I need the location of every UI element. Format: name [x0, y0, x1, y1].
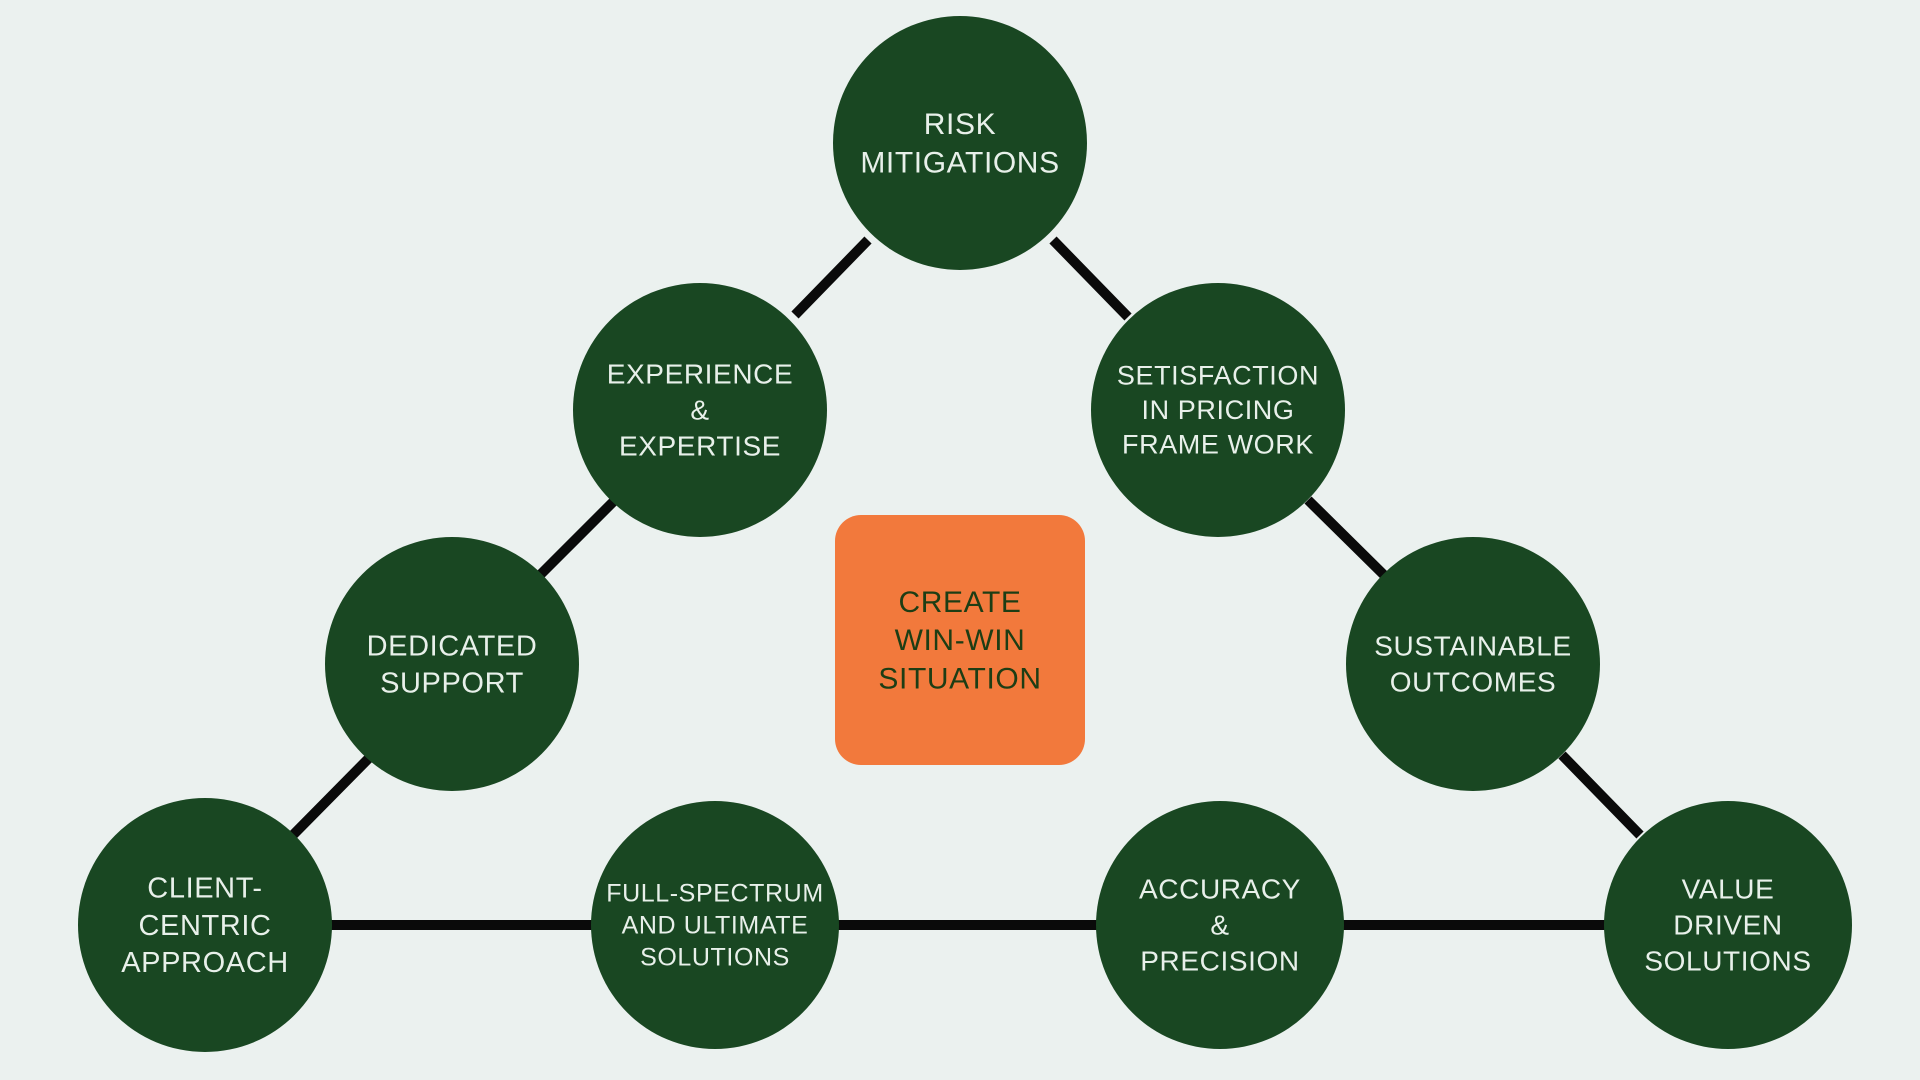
node-label-full-spectrum-and-ultimate-solutions-line-1: FULL-SPECTRUM	[606, 880, 824, 908]
node-label-full-spectrum-and-ultimate-solutions-line-2: AND ULTIMATE	[622, 912, 809, 940]
node-label-value-driven-solutions-line-2: DRIVEN	[1673, 910, 1782, 941]
center-label-line-2: WIN-WIN	[895, 624, 1026, 657]
center-label-line-1: CREATE	[898, 586, 1021, 619]
node-risk-mitigations[interactable]: RISKMITIGATIONS	[833, 16, 1087, 270]
node-shape-dedicated-support[interactable]	[325, 537, 579, 791]
node-label-risk-mitigations-line-2: MITIGATIONS	[860, 146, 1059, 179]
node-label-experience-and-expertise-line-1: EXPERIENCE	[607, 359, 794, 390]
node-label-client-centric-approach-line-2: CENTRIC	[138, 910, 271, 942]
node-label-dedicated-support-line-1: DEDICATED	[367, 630, 538, 662]
node-label-dedicated-support-line-2: SUPPORT	[380, 667, 524, 699]
node-create-win-win-situation[interactable]: CREATEWIN-WINSITUATION	[835, 515, 1085, 765]
node-label-risk-mitigations-line-1: RISK	[924, 108, 996, 141]
node-client-centric-approach[interactable]: CLIENT-CENTRICAPPROACH	[78, 798, 332, 1052]
node-full-spectrum-and-ultimate-solutions[interactable]: FULL-SPECTRUMAND ULTIMATESOLUTIONS	[591, 801, 839, 1049]
node-label-client-centric-approach-line-3: APPROACH	[121, 947, 289, 979]
node-label-accuracy-and-precision-line-2: &	[1210, 910, 1229, 941]
node-setisfaction-in-pricing-frame-work[interactable]: SETISFACTIONIN PRICINGFRAME WORK	[1091, 283, 1345, 537]
node-shape-sustainable-outcomes[interactable]	[1346, 537, 1600, 791]
node-label-setisfaction-in-pricing-frame-work-line-3: FRAME WORK	[1122, 430, 1314, 460]
node-accuracy-and-precision[interactable]: ACCURACY&PRECISION	[1096, 801, 1344, 1049]
node-label-accuracy-and-precision-line-1: ACCURACY	[1139, 874, 1301, 905]
win-win-diagram: RISKMITIGATIONSEXPERIENCE&EXPERTISESETIS…	[0, 0, 1920, 1080]
node-label-experience-and-expertise-line-2: &	[690, 395, 709, 426]
node-label-sustainable-outcomes-line-2: OUTCOMES	[1390, 666, 1557, 697]
node-label-sustainable-outcomes-line-1: SUSTAINABLE	[1374, 631, 1571, 662]
node-label-client-centric-approach-line-1: CLIENT-	[147, 873, 262, 905]
node-label-setisfaction-in-pricing-frame-work-line-1: SETISFACTION	[1117, 361, 1319, 391]
center-node-layer: CREATEWIN-WINSITUATION	[835, 515, 1085, 765]
center-label-line-3: SITUATION	[878, 663, 1041, 696]
node-shape-risk-mitigations[interactable]	[833, 16, 1087, 270]
node-dedicated-support[interactable]: DEDICATEDSUPPORT	[325, 537, 579, 791]
node-label-setisfaction-in-pricing-frame-work-line-2: IN PRICING	[1141, 395, 1294, 425]
node-label-full-spectrum-and-ultimate-solutions-line-3: SOLUTIONS	[640, 944, 790, 972]
node-experience-and-expertise[interactable]: EXPERIENCE&EXPERTISE	[573, 283, 827, 537]
node-label-value-driven-solutions-line-1: VALUE	[1682, 874, 1775, 905]
node-label-experience-and-expertise-line-3: EXPERTISE	[619, 430, 781, 461]
node-value-driven-solutions[interactable]: VALUEDRIVENSOLUTIONS	[1604, 801, 1852, 1049]
node-label-value-driven-solutions-line-3: SOLUTIONS	[1644, 945, 1811, 976]
diagram-canvas: RISKMITIGATIONSEXPERIENCE&EXPERTISESETIS…	[0, 0, 1920, 1080]
node-sustainable-outcomes[interactable]: SUSTAINABLEOUTCOMES	[1346, 537, 1600, 791]
node-label-accuracy-and-precision-line-3: PRECISION	[1140, 945, 1299, 976]
